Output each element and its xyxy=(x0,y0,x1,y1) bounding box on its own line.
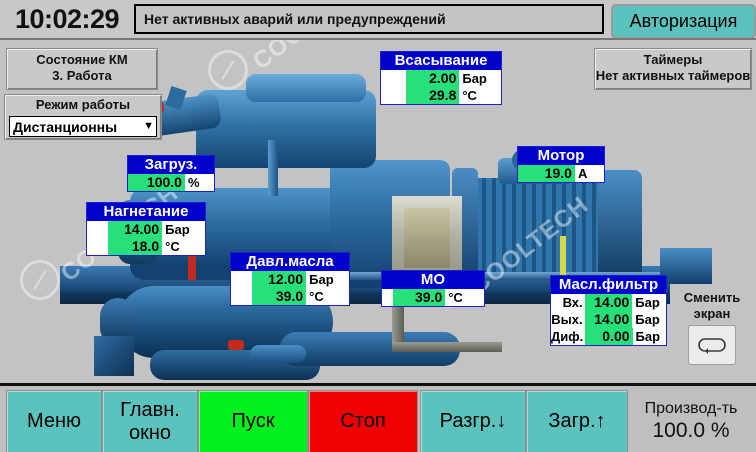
readout-oil-pressure-row-1: 39.0 °C xyxy=(231,288,349,305)
capacity-label: Производ-ть xyxy=(645,399,738,418)
start-button[interactable]: Пуск xyxy=(198,390,308,452)
readout-oil-filter-value-2: 0.00 xyxy=(585,328,632,345)
operating-mode-title: Режим работы xyxy=(5,97,161,113)
readout-oil-pressure-unit-0: Бар xyxy=(306,271,349,288)
readout-motor-row-0: 19.0 A xyxy=(518,165,604,182)
readout-suction-unit-1: °C xyxy=(459,87,501,104)
capacity-indicator: Производ-ть 100.0 % xyxy=(629,390,753,451)
menu-button[interactable]: Меню xyxy=(6,390,102,452)
readout-oil-filter-label-0: Вх. xyxy=(551,294,585,311)
readout-motor-value-0: 19.0 xyxy=(518,165,575,182)
timers-value: Нет активных таймеров xyxy=(595,68,751,84)
readout-oil-filter-row-0: Вх. 14.00 Бар xyxy=(551,294,666,311)
chevron-down-icon: ▼ xyxy=(143,121,154,132)
machine-state-value: 3. Работа xyxy=(7,68,157,84)
readout-oil-pressure-unit-1: °C xyxy=(306,288,349,305)
capacity-value: 100.0 % xyxy=(652,418,729,443)
readout-oil-filter-unit-2: Бар xyxy=(633,328,666,345)
readout-motor[interactable]: Мотор 19.0 A xyxy=(517,146,605,183)
readout-oil-filter-unit-1: Бар xyxy=(632,311,666,328)
readout-mo-title: МО xyxy=(382,271,484,289)
readout-discharge-row-1: 18.0 °C xyxy=(87,238,205,255)
change-screen-label-line1: Сменить xyxy=(672,290,752,306)
readout-discharge-unit-1: °C xyxy=(162,238,205,255)
stop-button[interactable]: Стоп xyxy=(308,390,418,452)
unload-button[interactable]: Разгр.↓ xyxy=(420,390,526,452)
readout-discharge-unit-0: Бар xyxy=(162,221,205,238)
readout-oil-pressure-row-0: 12.00 Бар xyxy=(231,271,349,288)
timers-title: Таймеры xyxy=(595,52,751,68)
machine-graphic-area: COOLTECH COOLTECH COOLTECH Состояние КМ … xyxy=(0,38,756,383)
readout-oil-filter-value-0: 14.00 xyxy=(585,294,633,311)
readout-discharge[interactable]: Нагнетание 14.00 Бар 18.0 °C xyxy=(86,202,206,256)
readout-load-row-0: 100.0 % xyxy=(128,174,214,191)
readout-oil-filter-value-1: 14.00 xyxy=(585,311,633,328)
readout-suction-row-0: 2.00 Бар xyxy=(381,70,501,87)
readout-oil-filter-label-1: Вых. xyxy=(551,311,585,328)
alarm-message-bar[interactable]: Нет активных аварий или предупреждений xyxy=(134,4,604,34)
top-status-bar: 10:02:29 Нет активных аварий или предупр… xyxy=(0,0,756,38)
readout-motor-unit-0: A xyxy=(575,165,604,182)
loop-arrow-icon xyxy=(696,335,728,355)
operating-mode-selected: Дистанционны xyxy=(13,119,117,135)
readout-suction-value-1: 29.8 xyxy=(406,87,459,104)
readout-suction-title: Всасывание xyxy=(381,52,501,70)
readout-load[interactable]: Загруз. 100.0 % xyxy=(127,155,215,192)
operating-mode-panel: Режим работы Дистанционны ▼ xyxy=(4,94,162,140)
readout-mo-unit-0: °C xyxy=(445,289,484,306)
readout-load-title: Загруз. xyxy=(128,156,214,174)
operating-mode-dropdown[interactable]: Дистанционны ▼ xyxy=(9,116,157,137)
hmi-screen: 10:02:29 Нет активных аварий или предупр… xyxy=(0,0,756,452)
change-screen-button[interactable] xyxy=(688,325,736,365)
readout-mo-row-0: 39.0 °C xyxy=(382,289,484,306)
readout-mo-value-0: 39.0 xyxy=(393,289,445,306)
machine-state-panel: Состояние КМ 3. Работа xyxy=(6,48,158,90)
authorization-button[interactable]: Авторизация xyxy=(611,4,756,39)
readout-suction-row-1: 29.8 °C xyxy=(381,87,501,104)
load-button[interactable]: Загр.↑ xyxy=(526,390,628,452)
readout-oil-pressure-value-0: 12.00 xyxy=(252,271,306,288)
readout-discharge-value-1: 18.0 xyxy=(108,238,162,255)
readout-suction-value-0: 2.00 xyxy=(406,70,459,87)
readout-oil-pressure-title: Давл.масла xyxy=(231,253,349,271)
readout-discharge-row-0: 14.00 Бар xyxy=(87,221,205,238)
change-screen-label-line2: экран xyxy=(672,306,752,322)
readout-oil-filter-row-1: Вых. 14.00 Бар xyxy=(551,311,666,328)
readout-load-value-0: 100.0 xyxy=(128,174,185,191)
readout-suction[interactable]: Всасывание 2.00 Бар 29.8 °C xyxy=(380,51,502,105)
clock-display: 10:02:29 xyxy=(4,2,130,36)
readout-oil-filter-unit-0: Бар xyxy=(632,294,666,311)
readout-oil-filter[interactable]: Масл.фильтр Вх. 14.00 Бар Вых. 14.00 Бар… xyxy=(550,275,667,346)
readout-oil-filter-label-2: Диф. xyxy=(551,328,585,345)
readout-discharge-value-0: 14.00 xyxy=(108,221,162,238)
machine-state-title: Состояние КМ xyxy=(7,52,157,68)
readout-oil-filter-title: Масл.фильтр xyxy=(551,276,666,294)
readout-oil-pressure-value-1: 39.0 xyxy=(252,288,306,305)
main-window-button[interactable]: Главн. окно xyxy=(102,390,198,452)
readout-oil-pressure[interactable]: Давл.масла 12.00 Бар 39.0 °C xyxy=(230,252,350,306)
bottom-button-bar: Меню Главн. окно Пуск Стоп Разгр.↓ Загр.… xyxy=(0,383,756,452)
readout-motor-title: Мотор xyxy=(518,147,604,165)
readout-suction-unit-0: Бар xyxy=(459,70,501,87)
readout-discharge-title: Нагнетание xyxy=(87,203,205,221)
readout-mo[interactable]: МО 39.0 °C xyxy=(381,270,485,307)
readout-oil-filter-row-2: Диф. 0.00 Бар xyxy=(551,328,666,345)
readout-load-unit-0: % xyxy=(185,174,214,191)
change-screen-control[interactable]: Сменить экран xyxy=(672,290,752,375)
timers-panel: Таймеры Нет активных таймеров xyxy=(594,48,752,90)
